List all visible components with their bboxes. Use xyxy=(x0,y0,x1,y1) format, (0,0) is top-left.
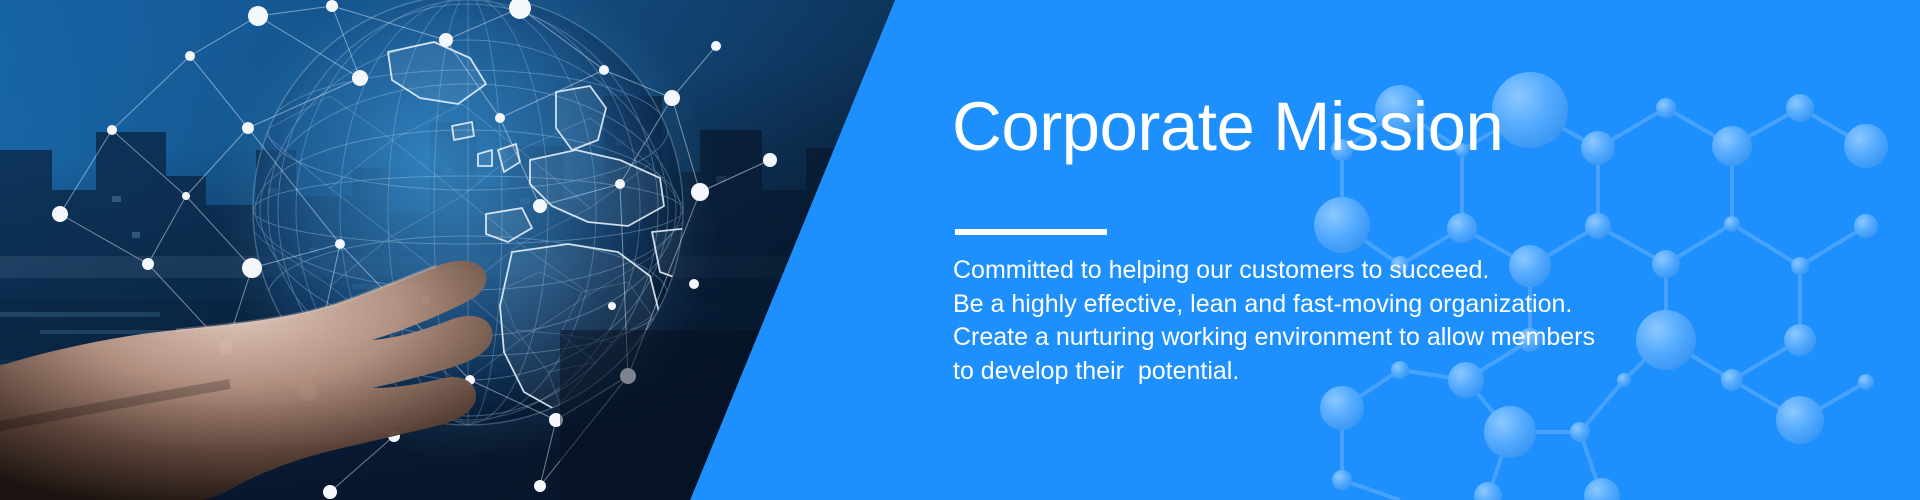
mission-line-4: to develop their potential. xyxy=(953,355,1693,389)
mission-line-2: Be a highly effective, lean and fast-mov… xyxy=(953,288,1693,322)
mission-statement: Committed to helping our customers to su… xyxy=(953,254,1693,388)
mission-line-1: Committed to helping our customers to su… xyxy=(953,254,1693,288)
page-title: Corporate Mission xyxy=(952,92,1503,162)
title-divider xyxy=(955,229,1107,235)
mission-line-3: Create a nurturing working environment t… xyxy=(953,321,1693,355)
mission-content: Corporate Mission Committed to helping o… xyxy=(952,0,1752,500)
corporate-mission-banner: Corporate Mission Committed to helping o… xyxy=(0,0,1920,500)
